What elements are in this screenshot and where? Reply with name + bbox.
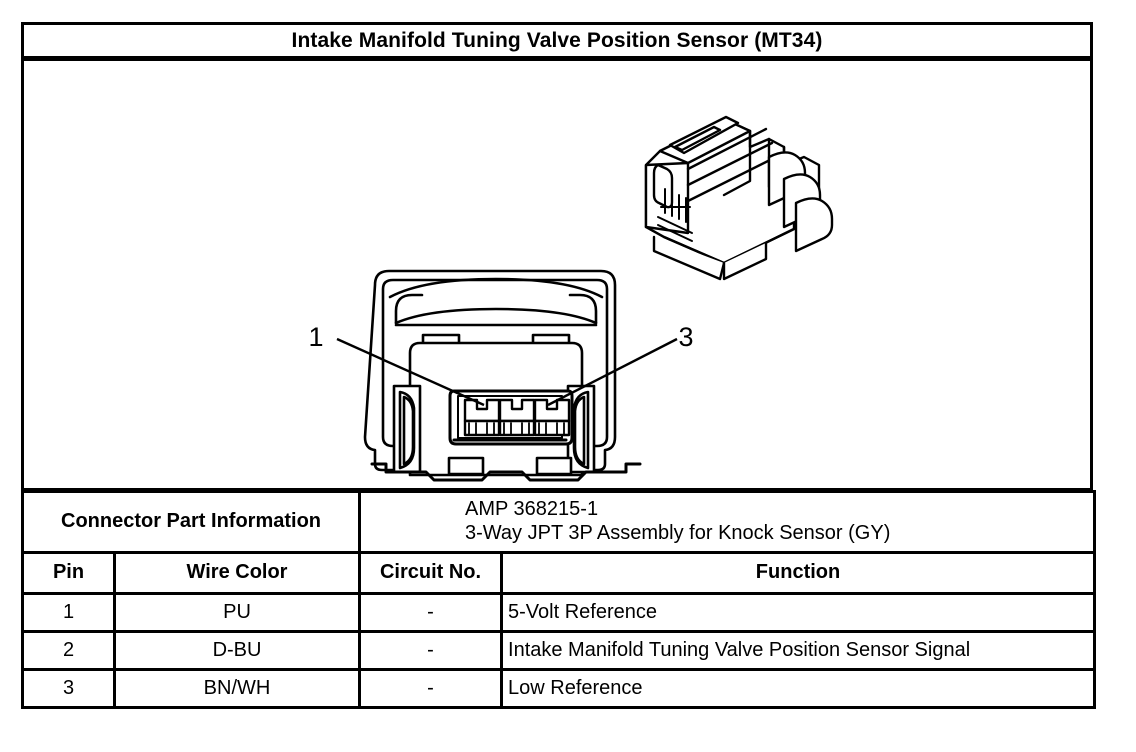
wire-color: BN/WH	[115, 670, 360, 708]
table-row: 3 BN/WH - Low Reference	[23, 670, 1095, 708]
pin-number: 3	[23, 670, 115, 708]
circuit-number: -	[360, 632, 502, 670]
connector-reference-sheet: Intake Manifold Tuning Valve Position Se…	[21, 22, 1093, 728]
document-title-bar: Intake Manifold Tuning Valve Position Se…	[21, 22, 1093, 59]
pin-number: 1	[23, 594, 115, 632]
function-description: Intake Manifold Tuning Valve Position Se…	[502, 632, 1095, 670]
callout-pin-1: 1	[308, 322, 323, 352]
circuit-number: -	[360, 594, 502, 632]
pin-number: 2	[23, 632, 115, 670]
connector-isometric-view	[646, 117, 832, 279]
connector-part-information-row: Connector Part Information AMP 368215-1 …	[23, 492, 1095, 553]
column-header-wire-color: Wire Color	[115, 553, 360, 594]
page-title: Intake Manifold Tuning Valve Position Se…	[292, 30, 823, 51]
table-row: 1 PU - 5-Volt Reference	[23, 594, 1095, 632]
column-header-pin: Pin	[23, 553, 115, 594]
column-header-function: Function	[502, 553, 1095, 594]
connector-part-number: AMP 368215-1	[465, 498, 1093, 522]
connector-part-information-value: AMP 368215-1 3-Way JPT 3P Assembly for K…	[360, 492, 1095, 553]
function-description: Low Reference	[502, 670, 1095, 708]
circuit-number: -	[360, 670, 502, 708]
connector-illustration: 1 3	[24, 61, 1090, 488]
function-description: 5-Volt Reference	[502, 594, 1095, 632]
wire-color: D-BU	[115, 632, 360, 670]
callout-pin-3: 3	[678, 322, 693, 352]
pin-table-header-row: Pin Wire Color Circuit No. Function	[23, 553, 1095, 594]
connector-illustration-panel: 1 3	[21, 58, 1093, 491]
connector-part-description: 3-Way JPT 3P Assembly for Knock Sensor (…	[465, 522, 1093, 546]
table-row: 2 D-BU - Intake Manifold Tuning Valve Po…	[23, 632, 1095, 670]
connector-face-view	[365, 271, 640, 480]
wire-color: PU	[115, 594, 360, 632]
connector-information-table: Connector Part Information AMP 368215-1 …	[21, 490, 1096, 709]
connector-part-information-label: Connector Part Information	[23, 492, 360, 553]
column-header-circuit-no: Circuit No.	[360, 553, 502, 594]
